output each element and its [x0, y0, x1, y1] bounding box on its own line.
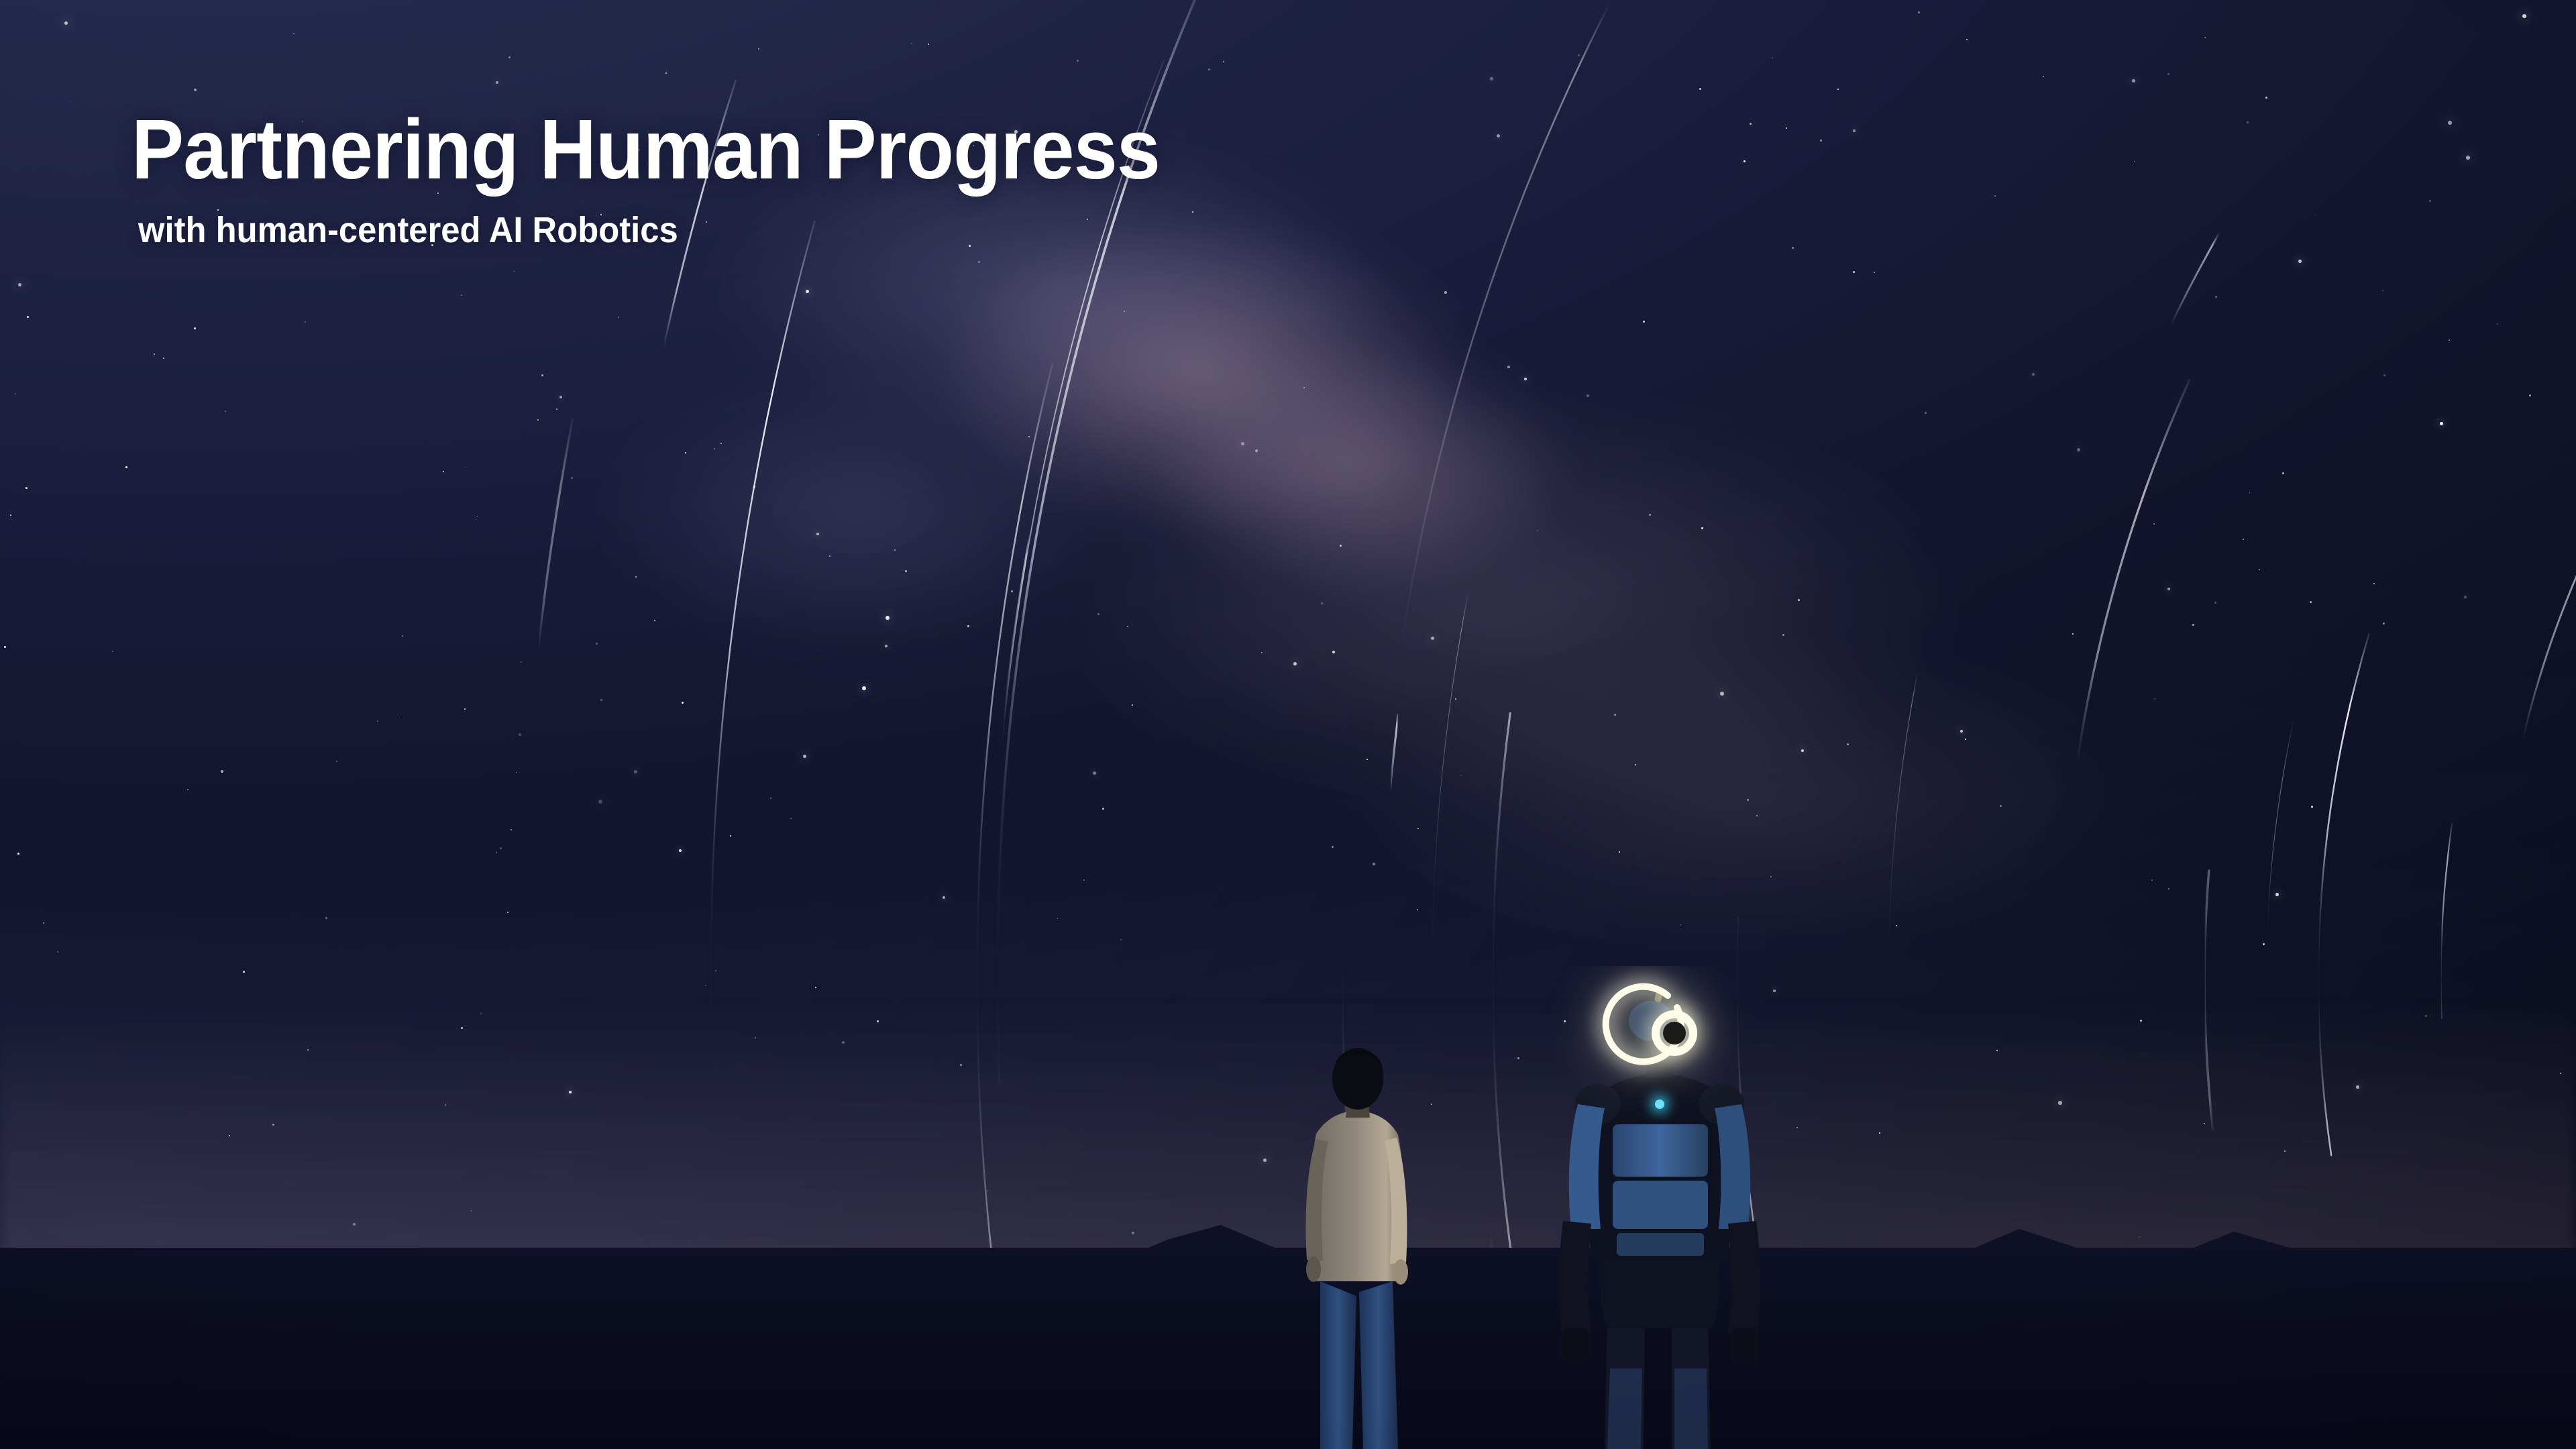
star	[1619, 851, 1620, 853]
star	[2383, 623, 2385, 625]
star	[1701, 527, 1703, 529]
star	[730, 835, 731, 837]
star	[1303, 387, 1305, 388]
star	[1524, 378, 1527, 380]
star	[2282, 472, 2284, 474]
star	[720, 443, 722, 444]
star	[714, 448, 715, 449]
star	[1208, 68, 1210, 70]
star	[1366, 759, 1368, 760]
star	[508, 56, 511, 58]
star	[154, 354, 155, 355]
star	[1223, 61, 1224, 62]
star	[516, 772, 517, 773]
star	[496, 81, 498, 84]
star	[928, 44, 929, 45]
star	[2298, 260, 2302, 263]
star	[1293, 662, 1297, 665]
star	[682, 702, 684, 704]
human-figure	[1306, 1048, 1408, 1449]
star	[377, 720, 378, 722]
star	[1102, 808, 1104, 810]
star	[125, 466, 127, 468]
star	[753, 486, 755, 488]
star	[1097, 613, 1099, 615]
star	[18, 283, 21, 286]
star	[2168, 888, 2169, 890]
star	[2077, 448, 2080, 451]
star	[679, 849, 682, 852]
star	[1460, 775, 1462, 776]
star	[2311, 806, 2313, 808]
star	[1332, 846, 1334, 848]
star	[64, 21, 68, 25]
star	[1321, 602, 1323, 604]
star	[511, 829, 512, 830]
star	[1455, 698, 1456, 700]
star	[1587, 394, 1589, 397]
star	[1747, 799, 1749, 801]
star	[2153, 523, 2155, 525]
star	[27, 316, 29, 318]
star	[2204, 37, 2206, 38]
star	[1255, 449, 1258, 452]
star	[1960, 730, 1963, 733]
star	[1786, 127, 1787, 129]
star	[163, 358, 164, 359]
star	[1614, 714, 1616, 716]
star	[1820, 140, 1822, 142]
star	[112, 651, 113, 652]
star	[2429, 200, 2431, 202]
star	[2249, 492, 2250, 493]
star	[2522, 14, 2526, 18]
star	[665, 72, 667, 74]
page-subtitle: with human-centered AI Robotics	[138, 212, 1171, 248]
star	[225, 411, 226, 412]
star	[790, 818, 792, 819]
star	[905, 570, 907, 572]
star	[2466, 156, 2470, 160]
star	[221, 770, 223, 773]
star	[1699, 88, 1701, 90]
star	[2072, 633, 2074, 635]
star	[571, 477, 573, 479]
star	[1340, 545, 1342, 547]
star	[1011, 590, 1013, 592]
star	[894, 549, 896, 551]
star	[967, 625, 969, 627]
star	[806, 290, 809, 293]
star	[187, 789, 189, 790]
star	[1261, 652, 1263, 653]
star	[500, 847, 502, 849]
star	[600, 699, 602, 701]
robot-chest-led-icon	[1655, 1099, 1664, 1109]
star	[402, 635, 403, 637]
star	[1874, 272, 1875, 273]
star	[1124, 311, 1125, 312]
star	[2151, 879, 2153, 881]
star	[1798, 599, 1800, 601]
star	[803, 755, 806, 758]
star	[2275, 893, 2279, 896]
star	[1918, 11, 1920, 13]
page-title: Partnering Human Progress	[131, 107, 1160, 192]
star	[2000, 805, 2002, 807]
star	[2383, 374, 2385, 376]
star	[1635, 764, 1636, 765]
star	[514, 271, 515, 272]
star	[978, 261, 980, 263]
star	[194, 327, 196, 329]
star	[194, 89, 197, 91]
star	[1965, 739, 1966, 740]
star	[1373, 863, 1375, 865]
star	[1720, 692, 1724, 696]
star	[885, 645, 888, 647]
star	[293, 33, 294, 34]
star	[1490, 77, 1493, 80]
star	[596, 643, 598, 645]
star	[2315, 215, 2316, 215]
star	[654, 620, 655, 621]
star	[1643, 321, 1645, 323]
star	[1772, 57, 1773, 58]
star	[1332, 651, 1335, 653]
star	[618, 317, 619, 318]
star	[634, 770, 637, 773]
star	[1782, 634, 1784, 636]
star	[2132, 79, 2135, 83]
star	[1507, 366, 1510, 368]
star	[2448, 121, 2452, 125]
star	[885, 616, 890, 620]
star	[2215, 296, 2217, 298]
star	[398, 714, 399, 714]
star	[1497, 134, 1500, 138]
star	[443, 471, 444, 472]
star	[1756, 815, 1758, 816]
star	[556, 409, 557, 410]
star	[2134, 161, 2135, 162]
star	[15, 393, 16, 394]
star	[2032, 373, 2035, 376]
star	[635, 576, 637, 578]
star	[829, 555, 830, 557]
star	[2373, 583, 2375, 584]
robot-figure	[1559, 987, 1761, 1449]
star	[1578, 54, 1580, 56]
star	[1083, 879, 1085, 881]
star	[1444, 291, 1447, 294]
star	[336, 761, 337, 762]
star	[461, 294, 462, 296]
star	[496, 852, 497, 853]
figures-layer	[0, 966, 2576, 1449]
star	[2247, 121, 2249, 123]
star	[1837, 89, 1839, 90]
star	[2154, 698, 2155, 700]
star	[1770, 876, 1772, 877]
star	[2382, 290, 2383, 291]
star	[2167, 588, 2170, 590]
star	[2449, 339, 2450, 341]
star	[2259, 569, 2260, 570]
star	[1093, 771, 1096, 775]
star	[1750, 123, 1752, 125]
star	[1537, 530, 1538, 531]
star	[770, 798, 771, 799]
star	[1853, 129, 1856, 132]
star	[1847, 743, 1849, 745]
star	[559, 396, 562, 398]
star	[862, 686, 866, 690]
star	[2464, 596, 2467, 598]
star	[537, 419, 539, 421]
star	[1077, 60, 1079, 62]
star	[1649, 514, 1651, 516]
star	[466, 467, 466, 468]
star	[1743, 160, 1746, 162]
star	[519, 733, 521, 736]
star	[305, 321, 306, 323]
figures-silhouettes	[0, 966, 2576, 1449]
star	[1431, 637, 1434, 640]
star	[1853, 271, 1855, 273]
star	[685, 452, 686, 453]
star	[477, 516, 478, 517]
star	[1241, 442, 1244, 445]
star	[1792, 247, 1794, 249]
star	[2265, 97, 2267, 99]
star	[17, 853, 19, 855]
star	[911, 43, 912, 44]
star	[2167, 73, 2169, 75]
star	[25, 487, 28, 489]
star	[2192, 624, 2194, 626]
star	[541, 374, 543, 376]
hero-scene: Partnering Human Progress with human-cen…	[0, 0, 2576, 1449]
star	[2529, 394, 2531, 396]
star	[2310, 601, 2312, 603]
star	[1994, 195, 1996, 197]
star	[70, 101, 70, 101]
hero-copy-block: Partnering Human Progress with human-cen…	[131, 107, 1237, 248]
star	[2214, 602, 2216, 604]
star	[1028, 436, 1030, 437]
star	[4, 646, 6, 648]
star	[758, 48, 759, 50]
star	[2043, 76, 2044, 77]
star	[598, 800, 602, 804]
star	[10, 515, 11, 516]
star	[2497, 323, 2498, 325]
star	[1925, 412, 1927, 414]
star	[1132, 704, 1133, 706]
star	[816, 533, 819, 535]
star	[1801, 749, 1804, 752]
star	[2440, 422, 2443, 425]
star	[1127, 626, 1128, 627]
star	[1417, 828, 1419, 829]
star	[1966, 39, 1968, 40]
star	[2243, 539, 2244, 540]
star	[521, 661, 522, 663]
star	[464, 708, 466, 710]
